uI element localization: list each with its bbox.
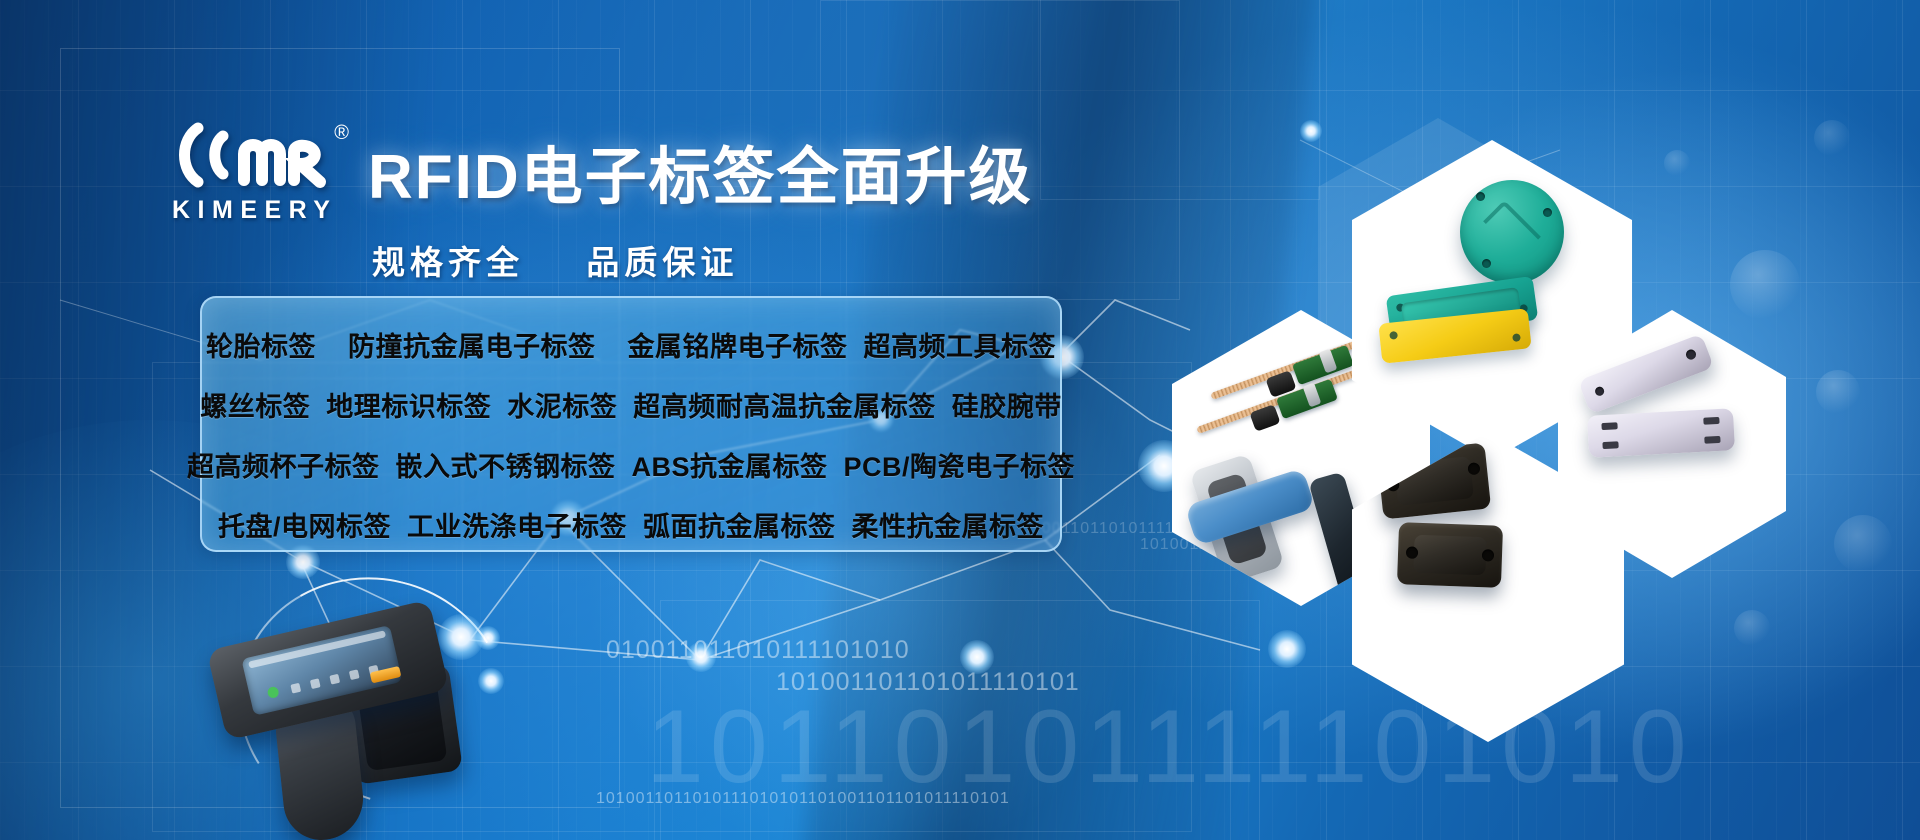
- product-row-1: 轮胎标签 防撞抗金属电子标签 金属铭牌电子标签 超高频工具标签: [202, 314, 1060, 374]
- reader-status-bar: [248, 630, 386, 668]
- decor-bokeh: [1664, 150, 1690, 176]
- product-item[interactable]: 弧面抗金属标签: [643, 505, 836, 544]
- product-item[interactable]: 水泥标签: [507, 385, 617, 424]
- tag-slot: [1602, 441, 1618, 449]
- decor-bokeh: [1734, 610, 1770, 646]
- reader-app-icon: [290, 683, 301, 694]
- network-node: [1300, 120, 1322, 142]
- product-item[interactable]: 超高频耐高温抗金属标签: [633, 385, 936, 424]
- product-item[interactable]: 螺丝标签: [200, 385, 310, 424]
- black-anti-metal-tag-bottom: [1397, 522, 1503, 588]
- product-item[interactable]: 柔性抗金属标签: [852, 505, 1045, 544]
- binary-text-2: 101001101101011110101: [776, 668, 1080, 697]
- tag-hole: [1685, 348, 1698, 361]
- product-item[interactable]: 工业洗涤电子标签: [407, 505, 627, 544]
- decor-bokeh: [1730, 250, 1800, 320]
- product-item[interactable]: 超高频杯子标签: [187, 445, 380, 484]
- brand-logo[interactable]: ® KIMEERY: [168, 120, 348, 230]
- kimeery-wave-logo-icon: ®: [168, 120, 343, 190]
- binary-text-1: 010011011010111101010: [606, 636, 910, 665]
- network-node: [1268, 630, 1306, 668]
- binary-text-3: 1010011011010111010101101001101101011110…: [596, 790, 1010, 808]
- network-node: [438, 614, 484, 660]
- chevron-emboss: [1483, 200, 1541, 258]
- rfid-banner: 10110101111101010 010011011010111101010 …: [0, 0, 1920, 840]
- product-item[interactable]: 轮胎标签: [206, 325, 316, 364]
- disc-hole: [1482, 259, 1491, 268]
- reader-app-icon: [349, 669, 360, 680]
- product-item[interactable]: 地理标识标签: [326, 385, 491, 424]
- product-item[interactable]: 嵌入式不锈钢标签: [395, 445, 615, 484]
- tag-face: [1413, 535, 1486, 575]
- bar-hole: [1512, 333, 1521, 342]
- bar-hole: [1389, 331, 1398, 340]
- decor-bokeh: [1816, 370, 1860, 414]
- product-row-3: 超高频杯子标签 嵌入式不锈钢标签 ABS抗金属标签 PCB/陶瓷电子标签: [202, 434, 1060, 494]
- product-item[interactable]: 超高频工具标签: [864, 325, 1057, 364]
- product-item[interactable]: 硅胶腕带: [952, 385, 1062, 424]
- teal-disc-tag: [1460, 180, 1564, 284]
- product-item[interactable]: ABS抗金属标签: [632, 445, 828, 484]
- product-list-panel: 轮胎标签 防撞抗金属电子标签 金属铭牌电子标签 超高频工具标签 螺丝标签 地理标…: [200, 296, 1062, 552]
- tag-hole: [1482, 549, 1494, 561]
- bar-hole: [1396, 303, 1405, 312]
- product-item[interactable]: 金属铭牌电子标签: [628, 325, 848, 364]
- tag-hole: [1467, 462, 1480, 475]
- disc-hole: [1476, 192, 1485, 201]
- decor-outline-4: [1040, 0, 1320, 200]
- product-item[interactable]: 防撞抗金属电子标签: [348, 325, 596, 364]
- page-title: RFID电子标签全面升级: [368, 126, 1033, 216]
- decor-bokeh: [1814, 120, 1850, 156]
- tag-slot: [1704, 436, 1720, 444]
- reader-app-icon: [329, 674, 340, 685]
- product-row-4: 托盘/电网标签 工业洗涤电子标签 弧面抗金属标签 柔性抗金属标签: [202, 494, 1060, 554]
- tag-slot: [1703, 417, 1719, 425]
- tag-slot: [1601, 422, 1617, 430]
- white-bar-tag-bottom: [1587, 408, 1735, 458]
- subtitle-left: 规格齐全: [372, 244, 524, 281]
- reader-app-icon: [310, 678, 321, 689]
- decor-bokeh: [1834, 515, 1892, 573]
- product-item[interactable]: 托盘/电网标签: [218, 505, 391, 544]
- network-node: [478, 668, 504, 694]
- subtitle-right: 品质保证: [586, 244, 738, 281]
- product-item[interactable]: PCB/陶瓷电子标签: [844, 445, 1076, 484]
- reader-app-icon-green: [267, 686, 280, 699]
- tag-hole: [1594, 385, 1606, 397]
- registered-mark-icon: ®: [334, 122, 349, 145]
- disc-hole: [1543, 208, 1552, 217]
- brand-wordmark: KIMEERY: [168, 196, 348, 225]
- subtitle: 规格齐全 品质保证: [372, 236, 738, 284]
- product-row-2: 螺丝标签 地理标识标签 水泥标签 超高频耐高温抗金属标签 硅胶腕带: [202, 374, 1060, 434]
